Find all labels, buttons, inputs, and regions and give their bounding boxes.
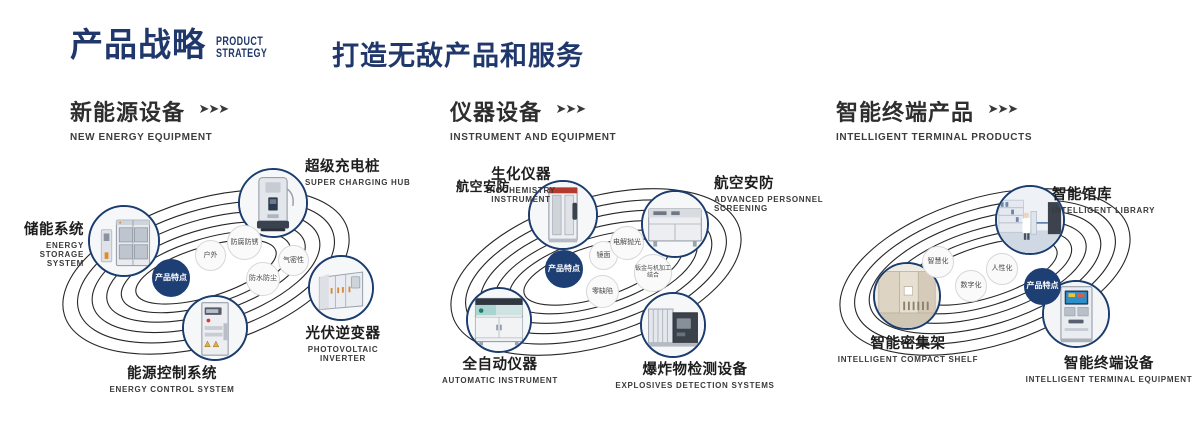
bubble-feature-sheetmetal-machining[interactable]: 钣金与机加工结合 bbox=[634, 254, 672, 292]
bubble-label: 户外 bbox=[204, 252, 218, 260]
inverter-cabinet-icon bbox=[310, 257, 372, 319]
bubble-feature-waterproof[interactable]: 防水防尘 bbox=[246, 262, 280, 296]
caption-cn: 智能馆库 bbox=[1052, 183, 1192, 204]
caption-automatic-instrument: 全自动仪器 AUTOMATIC INSTRUMENT bbox=[438, 353, 562, 385]
bubble-label: 数字化 bbox=[961, 282, 982, 290]
caption-en: INTELLIGENT LIBRARY bbox=[1052, 206, 1192, 215]
caption-cn: 智能密集架 bbox=[820, 332, 996, 353]
explosive-detector-icon bbox=[642, 294, 704, 356]
caption-en: EXPLOSIVES DETECTION SYSTEMS bbox=[605, 381, 785, 390]
caption-en: ENERGY CONTROL SYSTEM bbox=[82, 385, 262, 394]
bubble-label: 零缺陷 bbox=[592, 288, 613, 296]
caption-cn: 智能终端设备 bbox=[1018, 352, 1200, 373]
bubble-label: 产品特点 bbox=[155, 274, 187, 283]
caption-intelligent-terminal-equipment: 智能终端设备 INTELLIGENT TERMINAL EQUIPMENT bbox=[1018, 352, 1200, 384]
bubble-product-features[interactable]: 产品特点 bbox=[152, 259, 190, 297]
caption-en: INTELLIGENT TERMINAL EQUIPMENT bbox=[1018, 375, 1200, 384]
node-explosives-detection-systems[interactable] bbox=[640, 292, 706, 358]
bubble-label: 气密性 bbox=[283, 257, 304, 265]
caption-cn: 航空安防 bbox=[714, 172, 834, 193]
bubble-feature-airtightness[interactable]: 气密性 bbox=[278, 245, 309, 276]
bubble-feature-humanized[interactable]: 人性化 bbox=[986, 253, 1018, 285]
caption-energy-storage-system: 储能系统 ENERGY STORAGE SYSTEM bbox=[0, 218, 84, 268]
bubble-feature-intelligent[interactable]: 智慧化 bbox=[922, 246, 954, 278]
caption-cn: 全自动仪器 bbox=[438, 353, 562, 374]
battery-cabinet-icon bbox=[90, 207, 158, 275]
node-energy-storage-system[interactable] bbox=[88, 205, 160, 277]
node-advanced-personnel-screening[interactable] bbox=[641, 190, 709, 258]
caption-energy-control-system: 能源控制系统 ENERGY CONTROL SYSTEM bbox=[82, 362, 262, 394]
caption-cn: 能源控制系统 bbox=[82, 362, 262, 383]
bubble-label: 镜面 bbox=[597, 252, 611, 260]
bubble-feature-digital[interactable]: 数字化 bbox=[955, 270, 987, 302]
caption-cn: 超级充电桩 bbox=[305, 155, 435, 176]
bubble-label: 产品特点 bbox=[1027, 282, 1059, 291]
bubble-feature-electro-polishing[interactable]: 电解抛光 bbox=[610, 226, 644, 260]
bubble-feature-outdoor[interactable]: 户外 bbox=[195, 240, 226, 271]
node-automatic-instrument[interactable] bbox=[466, 287, 532, 353]
caption-photovoltaic-inverter: 光伏逆变器 PHOTOVOLTAIC INVERTER bbox=[290, 322, 396, 363]
automatic-analyzer-icon bbox=[468, 289, 530, 351]
caption-cn: 光伏逆变器 bbox=[290, 322, 396, 343]
caption-intelligent-library: 智能馆库 INTELLIGENT LIBRARY bbox=[1052, 183, 1192, 215]
node-energy-control-system[interactable] bbox=[182, 295, 248, 361]
bubble-label: 电解抛光 bbox=[613, 239, 641, 247]
caption-cn: 航空安防 bbox=[400, 176, 510, 195]
bubble-label: 产品特点 bbox=[548, 265, 580, 274]
product-strategy-infographic: 产品战略 PRODUCT STRATEGY 打造无敌产品和服务 新能源设备 ➤➤… bbox=[0, 0, 1200, 422]
bubble-product-features[interactable]: 产品特点 bbox=[1024, 268, 1061, 305]
caption-en: AUTOMATIC INSTRUMENT bbox=[438, 376, 562, 385]
screening-machine-icon bbox=[643, 192, 707, 256]
caption-intelligent-compact-shelf: 智能密集架 INTELLIGENT COMPACT SHELF bbox=[820, 332, 996, 364]
bubble-label: 人性化 bbox=[992, 265, 1013, 273]
caption-en: INTELLIGENT COMPACT SHELF bbox=[820, 355, 996, 364]
control-cabinet-icon bbox=[184, 297, 246, 359]
caption-en: ADVANCED PERSONNEL SCREENING bbox=[714, 195, 834, 213]
caption-cn: 爆炸物检测设备 bbox=[605, 358, 785, 379]
bubble-label: 智慧化 bbox=[928, 258, 949, 266]
bubble-product-features[interactable]: 产品特点 bbox=[545, 250, 583, 288]
caption-en: PHOTOVOLTAIC INVERTER bbox=[290, 345, 396, 363]
caption-cn: 储能系统 bbox=[0, 218, 84, 239]
bubble-label: 钣金与机加工结合 bbox=[635, 266, 671, 279]
caption-aviation-security-left: 航空安防 bbox=[400, 176, 510, 195]
caption-explosives-detection-systems: 爆炸物检测设备 EXPLOSIVES DETECTION SYSTEMS bbox=[605, 358, 785, 390]
caption-advanced-personnel-screening: 航空安防 ADVANCED PERSONNEL SCREENING bbox=[714, 172, 834, 213]
node-photovoltaic-inverter[interactable] bbox=[308, 255, 374, 321]
bubble-feature-anticorrosion[interactable]: 防腐防锈 bbox=[227, 225, 262, 260]
bubble-feature-zero-defect[interactable]: 零缺陷 bbox=[586, 275, 619, 308]
caption-en: ENERGY STORAGE SYSTEM bbox=[0, 241, 84, 268]
bubble-label: 防水防尘 bbox=[249, 275, 277, 283]
bubble-label: 防腐防锈 bbox=[231, 239, 259, 247]
